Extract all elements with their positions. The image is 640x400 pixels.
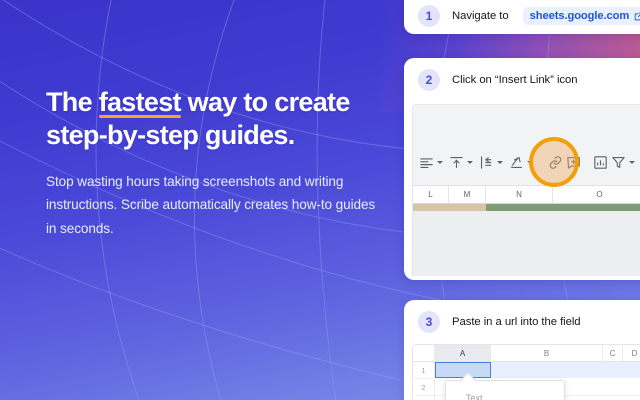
chevron-down-icon[interactable]: [629, 161, 635, 164]
step-card-3[interactable]: 3 Paste in a url into the field A B C D …: [404, 300, 640, 400]
step-number-badge: 1: [418, 5, 440, 27]
hero-subcopy: Stop wasting hours taking screenshots an…: [46, 170, 376, 240]
band-tan: [413, 204, 486, 211]
step-number-badge: 2: [418, 69, 440, 91]
sheet-body: [413, 211, 640, 276]
toolbar-insert-chart[interactable]: [592, 154, 609, 171]
chevron-down-icon[interactable]: [437, 161, 443, 164]
step-1-header: 1 Navigate to sheets.google.com: [404, 0, 640, 34]
column-header[interactable]: N: [486, 186, 553, 203]
chevron-down-icon[interactable]: [467, 161, 473, 164]
toolbar-text-wrap[interactable]: [478, 154, 507, 171]
sheets-url-link[interactable]: sheets.google.com: [523, 7, 640, 25]
column-header[interactable]: C: [603, 345, 623, 361]
sheets-toolbar[interactable]: [413, 147, 640, 177]
toolbar-filter[interactable]: [610, 154, 639, 171]
column-header[interactable]: D: [623, 345, 640, 361]
google-sheets-screenshot-step3: A B C D 1 2 3 Text: [412, 344, 640, 400]
step-number-badge: 3: [418, 311, 440, 333]
headline-emphasis: fastest: [99, 86, 181, 119]
promo-screenshot: The fastest way to create step-by-step g…: [0, 0, 640, 400]
step-2-label: Click on “Insert Link” icon: [452, 74, 577, 86]
step-card-2[interactable]: 2 Click on “Insert Link” icon: [404, 58, 640, 280]
sheet-color-band-row: [413, 204, 640, 211]
url-text: sheets.google.com: [530, 10, 630, 22]
sheet-corner-cell[interactable]: [413, 345, 435, 361]
column-header[interactable]: M: [449, 186, 486, 203]
toolbar-text-align[interactable]: [418, 154, 447, 171]
row-header[interactable]: 1: [413, 362, 434, 379]
sheet-column-headers: L M N O: [413, 185, 640, 204]
step-card-1[interactable]: 1 Navigate to sheets.google.com: [404, 0, 640, 34]
headline-part-1: The: [46, 87, 99, 117]
column-header[interactable]: A: [435, 345, 491, 361]
step-3-header: 3 Paste in a url into the field: [404, 300, 640, 344]
step-2-header: 2 Click on “Insert Link” icon: [404, 58, 640, 102]
insert-chart-icon: [592, 154, 609, 171]
google-sheets-screenshot-step2: L M N O: [412, 104, 640, 276]
column-header[interactable]: L: [413, 186, 449, 203]
text-rotation-icon: [508, 154, 525, 171]
text-align-icon: [418, 154, 435, 171]
tooltip-text-label: Text: [466, 393, 483, 400]
step-3-label: Paste in a url into the field: [452, 316, 581, 328]
chevron-down-icon[interactable]: [497, 161, 503, 164]
vertical-align-icon: [448, 154, 465, 171]
column-header[interactable]: O: [553, 186, 640, 203]
sheet3-row-headers: 1 2 3: [413, 362, 435, 400]
external-link-icon: [634, 12, 640, 21]
click-highlight-ring: [529, 137, 579, 187]
step-1-label: Navigate to: [452, 10, 509, 22]
text-wrap-icon: [478, 154, 495, 171]
sheet3-column-headers: A B C D: [413, 345, 640, 362]
link-text-tooltip[interactable]: Text: [445, 380, 565, 400]
row-header[interactable]: 2: [413, 379, 434, 396]
hero-section: The fastest way to create step-by-step g…: [46, 86, 396, 240]
filter-icon: [610, 154, 627, 171]
toolbar-vertical-align[interactable]: [448, 154, 477, 171]
column-header[interactable]: B: [491, 345, 603, 361]
band-green: [486, 204, 640, 211]
row-header[interactable]: 3: [413, 396, 434, 400]
page-title: The fastest way to create step-by-step g…: [46, 86, 396, 152]
